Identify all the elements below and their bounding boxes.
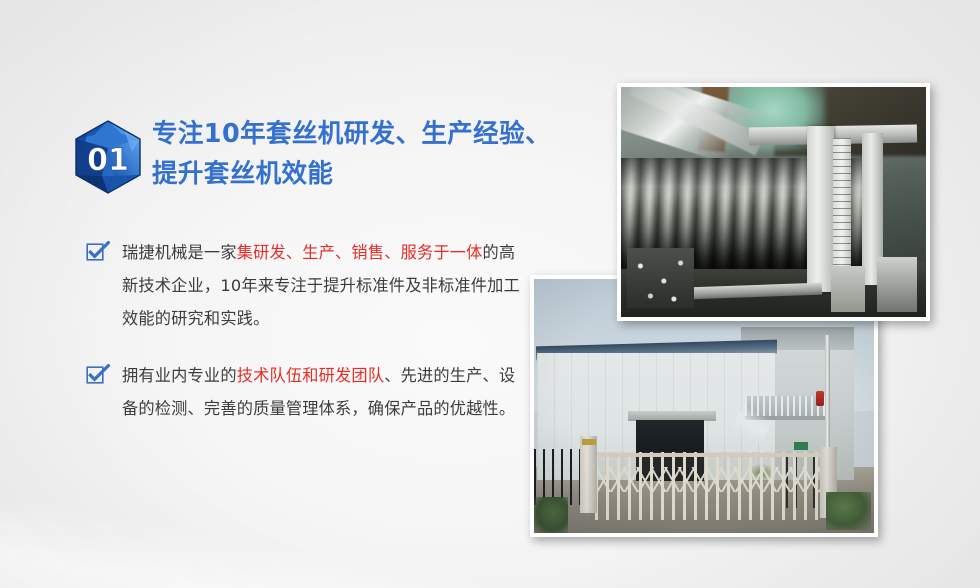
checkbox-checked-icon — [86, 241, 110, 263]
photo-threaded-rod — [617, 83, 930, 321]
list-item: 拥有业内专业的技术队伍和研发团队、先进的生产、设备的检测、完善的质量管理体系，确… — [86, 359, 526, 425]
left-content-column: 01 专注10年套丝机研发、生产经验、 提升套丝机效能 瑞捷机械是一家集研发、生… — [0, 0, 560, 588]
list-item: 瑞捷机械是一家集研发、生产、销售、服务于一体的高新技术企业，10年来专注于提升标… — [86, 236, 526, 335]
svg-text:01: 01 — [87, 143, 129, 178]
bullet-text-highlight: 集研发、生产、销售、服务于一体 — [237, 243, 483, 262]
checkbox-checked-icon — [86, 364, 110, 386]
title-line-2: 提升套丝机效能 — [152, 154, 552, 194]
promo-banner: 01 专注10年套丝机研发、生产经验、 提升套丝机效能 瑞捷机械是一家集研发、生… — [0, 0, 980, 588]
page-title: 专注10年套丝机研发、生产经验、 提升套丝机效能 — [152, 114, 552, 194]
bullet-text-part: 拥有业内专业的 — [122, 366, 237, 385]
title-line-1: 专注10年套丝机研发、生产经验、 — [152, 114, 552, 154]
bullet-text-highlight: 技术队伍和研发团队 — [237, 366, 385, 385]
bullet-text-part: 瑞捷机械是一家 — [122, 243, 237, 262]
feature-bullet-list: 瑞捷机械是一家集研发、生产、销售、服务于一体的高新技术企业，10年来专注于提升标… — [86, 236, 526, 449]
hexagon-gem-icon: 01 — [72, 118, 144, 196]
